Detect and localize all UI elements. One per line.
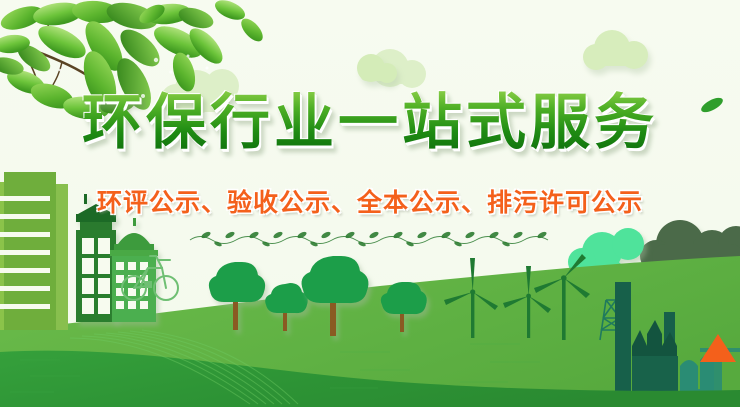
eco-service-banner: 环保行业一站式服务 环评公示、验收公示、全本公示、排污许可公示 [0, 0, 740, 407]
page-title: 环保行业一站式服务 [82, 88, 658, 158]
page-subtitle: 环评公示、验收公示、全本公示、排污许可公示 [97, 186, 643, 220]
title-block: 环保行业一站式服务 [0, 88, 740, 158]
subtitle-block: 环评公示、验收公示、全本公示、排污许可公示 [0, 186, 740, 220]
